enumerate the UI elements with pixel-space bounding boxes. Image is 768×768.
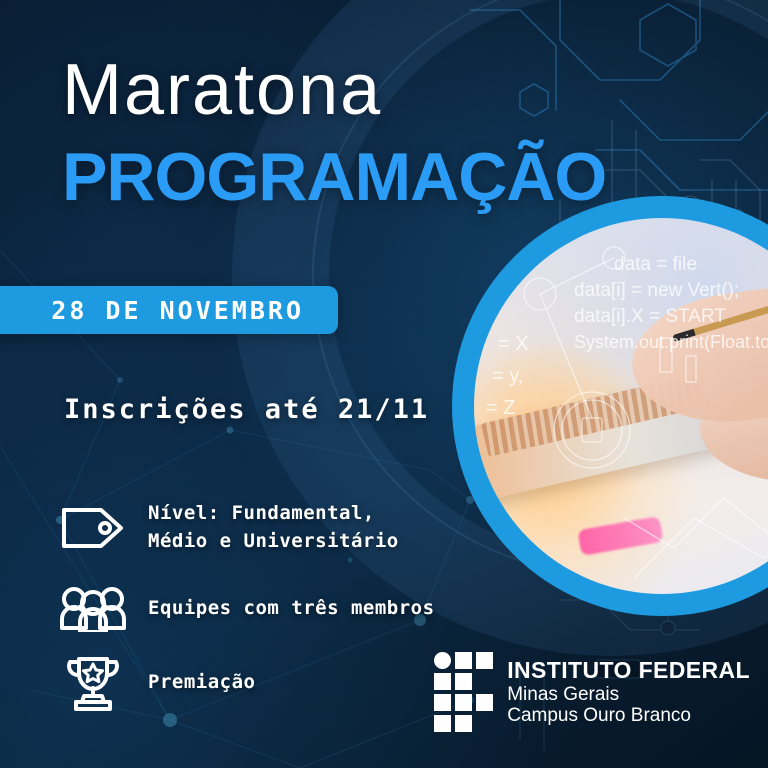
info-row-teams-label: Equipes com três membros [148,595,435,623]
laptop-photo: data = file data[i] = new Vert(); data[i… [474,218,768,594]
code-line-0: data = file [614,254,697,275]
math-line-0: = X [498,333,529,355]
institution-logo: INSTITUTO FEDERAL Minas Gerais Campus Ou… [434,652,750,732]
photo-circle: data = file data[i] = new Vert(); data[i… [452,196,768,616]
trophy-icon [60,655,126,711]
math-line-1: = y, [492,365,523,387]
if-logo-mark [434,652,493,732]
info-row-level: Nível: Fundamental, Médio e Universitári… [60,500,399,555]
institution-logo-text: INSTITUTO FEDERAL Minas Gerais Campus Ou… [507,658,750,726]
code-line-2: data[i].X = START [574,306,726,327]
info-row-prize-label: Premiação [148,669,255,697]
logo-line-2: Minas Gerais [507,684,750,705]
date-banner: 28 DE NOVEMBRO [0,286,338,334]
logo-line-3: Campus Ouro Branco [507,705,750,726]
tag-icon [60,505,126,551]
code-overlay-graphic: data = file data[i] = new Vert(); data[i… [474,218,768,594]
math-line-2: = Z [486,397,515,419]
poster-canvas: data = file data[i] = new Vert(); data[i… [0,0,768,768]
info-row-prize: Premiação [60,655,255,711]
page-subtitle: PROGRAMAÇÃO [62,143,606,211]
code-line-3: System.out.print(Float.toStri [574,332,768,352]
date-banner-label: 28 DE NOVEMBRO [51,296,304,325]
registration-deadline: Inscrições até 21/11 [64,394,429,425]
page-title: Maratona [62,54,382,126]
info-row-teams: Equipes com três membros [60,586,435,632]
logo-line-1: INSTITUTO FEDERAL [507,658,750,684]
code-line-1: data[i] = new Vert(); [574,280,739,301]
info-row-level-label: Nível: Fundamental, Médio e Universitári… [148,500,399,555]
people-icon [60,586,126,632]
